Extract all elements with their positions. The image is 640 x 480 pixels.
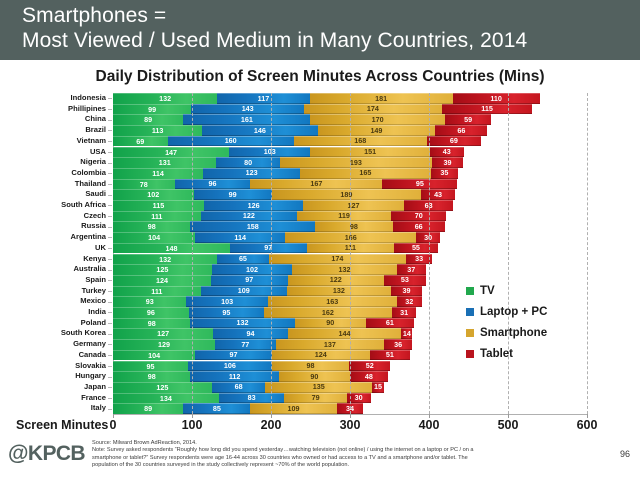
y-axis-tick — [108, 120, 112, 121]
bar-segment-smartphone: 165 — [300, 168, 430, 179]
bar-segment-tablet: 95 — [382, 179, 457, 190]
bar-value-label: 119 — [338, 212, 350, 219]
bar-segment-tablet: 32 — [397, 296, 422, 307]
bar-segment-tablet: 48 — [350, 371, 388, 382]
bar-value-label: 39 — [444, 159, 452, 166]
bar-segment-tv: 104 — [113, 232, 195, 243]
y-axis-tick — [108, 398, 112, 399]
bar-segment-tv: 148 — [113, 243, 230, 254]
chart-y-axis-labels: IndonesiaPhillipinesChinaBrazilVietnamUS… — [0, 93, 110, 414]
bar-value-label: 96 — [209, 180, 217, 187]
bar-value-label: 127 — [157, 330, 169, 337]
bar-value-label: 181 — [375, 95, 387, 102]
y-axis-label: Indonesia — [71, 93, 106, 104]
bar-value-label: 99 — [148, 106, 156, 113]
bar-value-label: 167 — [310, 180, 322, 187]
bar-segment-laptop-pc: 112 — [190, 371, 278, 382]
chart-bar-row: 12510213237 — [113, 264, 426, 275]
bar-value-label: 66 — [415, 223, 423, 230]
x-axis-tick-label: 600 — [577, 418, 598, 432]
bar-value-label: 104 — [148, 352, 160, 359]
bar-value-label: 83 — [248, 394, 256, 401]
bar-value-label: 193 — [350, 159, 362, 166]
bar-value-label: 48 — [365, 373, 373, 380]
bar-segment-smartphone: 119 — [297, 211, 391, 222]
y-axis-label: Kenya — [83, 254, 106, 265]
chart-gridline — [192, 93, 193, 414]
bar-value-label: 97 — [245, 276, 253, 283]
chart-bar-row: 11412316535 — [113, 168, 458, 179]
bar-segment-tv: 114 — [113, 168, 203, 179]
chart-bar-row: 1049712451 — [113, 350, 410, 361]
bar-value-label: 115 — [153, 202, 165, 209]
bar-value-label: 98 — [148, 320, 156, 327]
bar-segment-smartphone: 109 — [250, 403, 336, 414]
bar-segment-laptop-pc: 102 — [212, 264, 293, 275]
bar-segment-smartphone: 170 — [310, 114, 444, 125]
bar-segment-smartphone: 90 — [295, 318, 366, 329]
bar-value-label: 93 — [146, 298, 154, 305]
y-axis-label: China — [85, 114, 106, 125]
bar-segment-laptop-pc: 158 — [190, 221, 315, 232]
bar-segment-tablet: 70 — [391, 211, 446, 222]
bar-segment-laptop-pc: 65 — [217, 254, 268, 265]
chart-bar-row: 951069852 — [113, 361, 390, 372]
y-axis-tick — [108, 163, 112, 164]
chart-bar-row: 1256813515 — [113, 382, 384, 393]
source-note-line-4: population of the 30 countries surveyed … — [92, 462, 562, 469]
bar-value-label: 124 — [156, 277, 168, 284]
bar-value-label: 55 — [412, 244, 420, 251]
legend-label: Laptop + PC — [480, 306, 547, 318]
bar-segment-smartphone: 79 — [284, 393, 346, 404]
bar-segment-smartphone: 163 — [268, 296, 397, 307]
bar-value-label: 122 — [330, 276, 342, 283]
bar-segment-smartphone: 174 — [304, 104, 441, 115]
bar-value-label: 70 — [415, 212, 423, 219]
legend-item[interactable]: Smartphone — [466, 327, 547, 339]
bar-value-label: 112 — [229, 373, 241, 380]
y-axis-label: Russia — [81, 221, 106, 232]
bar-value-label: 132 — [159, 256, 171, 263]
bar-value-label: 59 — [464, 116, 472, 123]
chart-bar-row: 11112211970 — [113, 211, 446, 222]
y-axis-tick — [108, 130, 112, 131]
bar-value-label: 103 — [221, 298, 233, 305]
bar-segment-smartphone: 98 — [315, 221, 392, 232]
y-axis-tick — [108, 280, 112, 281]
bar-segment-tv: 124 — [113, 275, 211, 286]
y-axis-tick — [108, 109, 112, 110]
y-axis-tick — [108, 355, 112, 356]
chart-bar-row: 981129048 — [113, 371, 388, 382]
bar-segment-smartphone: 181 — [310, 93, 453, 104]
bar-value-label: 126 — [248, 202, 260, 209]
y-axis-label: Turkey — [82, 286, 106, 297]
bar-segment-tv: 132 — [113, 93, 217, 104]
bar-value-label: 98 — [148, 223, 156, 230]
bar-value-label: 168 — [354, 137, 366, 144]
bar-value-label: 96 — [147, 309, 155, 316]
bar-segment-tv: 131 — [113, 157, 216, 168]
bar-segment-tv: 93 — [113, 296, 186, 307]
y-axis-tick — [108, 387, 112, 388]
legend-item[interactable]: TV — [466, 285, 547, 297]
bar-segment-tv: 115 — [113, 200, 204, 211]
chart-bar-row: 14710315143 — [113, 147, 464, 158]
bar-segment-laptop-pc: 132 — [190, 318, 294, 329]
chart-bar-row: 1297713736 — [113, 339, 412, 350]
bar-segment-laptop-pc: 96 — [175, 179, 251, 190]
bar-segment-smartphone: 98 — [272, 361, 349, 372]
bar-segment-smartphone: 151 — [310, 147, 429, 158]
bar-value-label: 51 — [386, 351, 394, 358]
bar-value-label: 129 — [158, 341, 170, 348]
y-axis-label: France — [81, 393, 106, 404]
header-title-line-2: Most Viewed / Used Medium in Many Countr… — [22, 28, 527, 54]
source-note: Source: Milward Brown AdReaction, 2014. … — [92, 440, 562, 469]
bar-segment-tablet: 31 — [392, 307, 416, 318]
legend-swatch-icon — [466, 329, 474, 337]
y-axis-label: Canada — [79, 350, 106, 361]
bar-value-label: 53 — [401, 276, 409, 283]
bar-value-label: 143 — [242, 105, 254, 112]
bar-segment-laptop-pc: 143 — [191, 104, 304, 115]
bar-segment-smartphone: 122 — [288, 275, 384, 286]
bar-value-label: 103 — [264, 148, 276, 155]
bar-segment-smartphone: 124 — [272, 350, 370, 361]
bar-segment-tablet: 36 — [384, 339, 412, 350]
y-axis-tick — [108, 141, 112, 142]
bar-value-label: 69 — [450, 137, 458, 144]
bar-value-label: 125 — [156, 266, 168, 273]
bar-segment-laptop-pc: 161 — [183, 114, 310, 125]
legend-item[interactable]: Tablet — [466, 348, 547, 360]
chart-bar-row: 10411416630 — [113, 232, 440, 243]
x-axis-tick-label: 500 — [498, 418, 519, 432]
y-axis-tick — [108, 377, 112, 378]
bar-segment-tv: 102 — [113, 189, 194, 200]
bar-value-label: 123 — [246, 169, 258, 176]
bar-value-label: 132 — [237, 319, 249, 326]
bar-segment-tv: 125 — [113, 382, 212, 393]
bar-segment-laptop-pc: 126 — [204, 200, 304, 211]
y-axis-tick — [108, 302, 112, 303]
bar-segment-laptop-pc: 68 — [212, 382, 266, 393]
bar-value-label: 90 — [310, 373, 318, 380]
y-axis-tick — [108, 248, 112, 249]
chart-gridline — [271, 93, 272, 414]
x-axis-tick-label: 400 — [419, 418, 440, 432]
y-axis-tick — [108, 195, 112, 196]
bar-segment-laptop-pc: 117 — [217, 93, 309, 104]
y-axis-label: Vietnam — [77, 136, 106, 147]
chart-bar-row: 11314614966 — [113, 125, 487, 136]
bar-value-label: 114 — [152, 170, 164, 177]
bar-segment-tv: 111 — [113, 286, 201, 297]
bar-segment-tablet: 52 — [349, 361, 390, 372]
y-axis-label: Australia — [74, 264, 107, 275]
bar-value-label: 102 — [246, 266, 258, 273]
bar-segment-tv: 104 — [113, 350, 195, 361]
bar-segment-laptop-pc: 160 — [168, 136, 294, 147]
y-axis-label: Slovakia — [75, 361, 106, 372]
bar-value-label: 113 — [152, 127, 164, 134]
bar-segment-tv: 125 — [113, 264, 212, 275]
slide-header: Smartphones = Most Viewed / Used Medium … — [0, 0, 640, 60]
bar-segment-tv: 89 — [113, 114, 183, 125]
x-axis-tick-label: 0 — [110, 418, 117, 432]
bar-segment-tablet: 37 — [397, 264, 426, 275]
bar-value-label: 90 — [326, 319, 334, 326]
bar-segment-smartphone: 168 — [294, 136, 427, 147]
y-axis-label: Saudi — [85, 189, 106, 200]
bar-segment-smartphone: 149 — [318, 125, 436, 136]
bar-segment-tv: 89 — [113, 403, 183, 414]
bar-segment-tv: 98 — [113, 318, 190, 329]
legend-item[interactable]: Laptop + PC — [466, 306, 547, 318]
bar-value-label: 89 — [144, 405, 152, 412]
bar-value-label: 37 — [407, 266, 415, 273]
bar-segment-tv: 129 — [113, 339, 215, 350]
bar-segment-smartphone: 189 — [272, 189, 421, 200]
y-axis-label: Hungary — [75, 371, 106, 382]
y-axis-tick — [108, 216, 112, 217]
y-axis-label: South Africa — [61, 200, 106, 211]
bar-value-label: 43 — [443, 148, 451, 155]
bar-segment-laptop-pc: 97 — [230, 243, 307, 254]
bar-segment-tv: 132 — [113, 254, 217, 265]
bar-value-label: 146 — [254, 127, 266, 134]
y-axis-tick — [108, 152, 112, 153]
chart-bar-row: 8916117059 — [113, 114, 491, 125]
bar-segment-laptop-pc: 103 — [229, 147, 310, 158]
bar-segment-tablet: 14 — [401, 328, 412, 339]
bar-value-label: 151 — [364, 148, 376, 155]
bar-value-label: 85 — [213, 405, 221, 412]
y-axis-label: Phillipines — [68, 104, 106, 115]
bar-segment-smartphone: 90 — [279, 371, 350, 382]
bar-value-label: 32 — [405, 298, 413, 305]
y-axis-label: India — [88, 307, 106, 318]
bar-segment-tv: 69 — [113, 136, 168, 147]
bar-value-label: 35 — [440, 169, 448, 176]
bar-segment-tv: 111 — [113, 211, 201, 222]
bar-segment-tv: 98 — [113, 371, 190, 382]
bar-segment-laptop-pc: 146 — [202, 125, 317, 136]
bar-value-label: 36 — [394, 341, 402, 348]
bar-segment-smartphone: 132 — [287, 286, 391, 297]
y-axis-label: UK — [95, 243, 106, 254]
bar-segment-smartphone: 137 — [276, 339, 384, 350]
bar-value-label: 80 — [244, 159, 252, 166]
bar-value-label: 79 — [312, 394, 320, 401]
bar-segment-tv: 95 — [113, 361, 188, 372]
bar-segment-tv: 78 — [113, 179, 175, 190]
chart-bar-row: 134837930 — [113, 393, 371, 404]
bar-segment-tablet: 35 — [431, 168, 459, 179]
legend-label: TV — [480, 285, 495, 297]
bar-segment-tv: 147 — [113, 147, 229, 158]
chart-bar-row: 898510934 — [113, 403, 363, 414]
bar-value-label: 160 — [225, 137, 237, 144]
bar-value-label: 132 — [333, 287, 345, 294]
bar-value-label: 114 — [234, 234, 246, 241]
bar-segment-tablet: 43 — [430, 147, 464, 158]
bar-segment-tablet: 39 — [391, 286, 422, 297]
bar-value-label: 14 — [403, 330, 411, 337]
y-axis-label: South Korea — [61, 328, 106, 339]
y-axis-label: Thailand — [75, 179, 106, 190]
bar-value-label: 95 — [416, 180, 424, 187]
bar-value-label: 147 — [165, 149, 177, 156]
bar-value-label: 99 — [229, 191, 237, 198]
y-axis-tick — [108, 227, 112, 228]
bar-value-label: 174 — [367, 105, 379, 112]
y-axis-tick — [108, 98, 112, 99]
chart-bar-row: 1279414414 — [113, 328, 412, 339]
bar-value-label: 137 — [324, 341, 336, 348]
bar-value-label: 68 — [235, 383, 243, 390]
y-axis-label: Czech — [84, 211, 106, 222]
bar-value-label: 30 — [355, 394, 363, 401]
bar-segment-laptop-pc: 123 — [203, 168, 300, 179]
chart-bar-row: 981329061 — [113, 318, 414, 329]
chart-legend: TVLaptop + PCSmartphoneTablet — [466, 285, 547, 369]
bar-segment-tv: 99 — [113, 104, 191, 115]
slide-footer: @KPCB Source: Milward Brown AdReaction, … — [0, 436, 640, 480]
y-axis-label: Germany — [73, 339, 106, 350]
bar-segment-laptop-pc: 99 — [194, 189, 272, 200]
bar-segment-laptop-pc: 97 — [211, 275, 288, 286]
bar-value-label: 109 — [287, 405, 299, 412]
bar-segment-smartphone: 135 — [265, 382, 372, 393]
legend-swatch-icon — [466, 308, 474, 316]
bar-segment-smartphone: 132 — [292, 264, 396, 275]
y-axis-tick — [108, 291, 112, 292]
y-axis-tick — [108, 173, 112, 174]
page-number: 96 — [620, 449, 630, 459]
bar-value-label: 15 — [374, 383, 382, 390]
source-note-line-2: Note: Survey asked respondents “Roughly … — [92, 447, 562, 454]
bar-value-label: 135 — [313, 383, 325, 390]
bar-value-label: 77 — [241, 341, 249, 348]
legend-label: Smartphone — [480, 327, 547, 339]
bar-value-label: 134 — [160, 395, 172, 402]
chart-gridline — [587, 93, 588, 414]
source-note-line-1: Source: Milward Brown AdReaction, 2014. — [92, 440, 562, 447]
bar-value-label: 104 — [148, 234, 160, 241]
chart-bar-row: 132117181110 — [113, 93, 540, 104]
bar-value-label: 89 — [144, 116, 152, 123]
bar-segment-tv: 134 — [113, 393, 219, 404]
bar-value-label: 163 — [326, 298, 338, 305]
bar-value-label: 122 — [243, 212, 255, 219]
bar-segment-laptop-pc: 103 — [186, 296, 267, 307]
bar-segment-laptop-pc: 94 — [213, 328, 287, 339]
bar-segment-tablet: 39 — [432, 157, 463, 168]
bar-segment-tablet: 59 — [445, 114, 492, 125]
bar-value-label: 69 — [136, 138, 144, 145]
bar-value-label: 111 — [151, 213, 162, 220]
chart-bar-row: 1489711155 — [113, 243, 438, 254]
chart-bar-row: 1318019339 — [113, 157, 463, 168]
y-axis-tick — [108, 312, 112, 313]
bar-value-label: 98 — [148, 373, 156, 380]
bar-value-label: 31 — [400, 309, 408, 316]
y-axis-tick — [108, 259, 112, 260]
bar-value-label: 115 — [481, 105, 493, 112]
y-axis-label: Italy — [91, 403, 106, 414]
bar-value-label: 124 — [315, 351, 327, 358]
legend-swatch-icon — [466, 287, 474, 295]
source-note-line-3: smartphone or tablet?” Survey respondent… — [92, 455, 562, 462]
y-axis-tick — [108, 184, 112, 185]
bar-value-label: 102 — [147, 191, 159, 198]
bar-value-label: 98 — [350, 223, 358, 230]
chart-bar-row: 1249712253 — [113, 275, 426, 286]
chart-x-axis: 0100200300400500600 — [0, 414, 640, 436]
bar-segment-laptop-pc: 95 — [189, 307, 264, 318]
bar-segment-smartphone: 127 — [303, 200, 403, 211]
y-axis-label: Argentina — [71, 232, 106, 243]
bar-segment-laptop-pc: 122 — [201, 211, 297, 222]
chart-title: Daily Distribution of Screen Minutes Acr… — [0, 68, 640, 86]
bar-segment-tablet: 66 — [393, 221, 445, 232]
bar-value-label: 61 — [386, 319, 394, 326]
chart-bar-row: 981589866 — [113, 221, 445, 232]
y-axis-label: Spain — [85, 275, 106, 286]
chart-gridline — [429, 93, 430, 414]
bar-value-label: 162 — [322, 309, 334, 316]
bar-segment-tablet: 51 — [370, 350, 410, 361]
bar-segment-smartphone: 144 — [288, 328, 402, 339]
y-axis-label: Mexico — [80, 296, 106, 307]
y-axis-label: Japan — [84, 382, 106, 393]
bar-value-label: 117 — [258, 95, 270, 102]
chart-bar-row: 1029918943 — [113, 189, 455, 200]
legend-label: Tablet — [480, 348, 513, 360]
bar-value-label: 109 — [238, 287, 250, 294]
bar-value-label: 65 — [239, 255, 247, 262]
y-axis-tick — [108, 334, 112, 335]
slide-root: Smartphones = Most Viewed / Used Medium … — [0, 0, 640, 480]
bar-value-label: 97 — [229, 351, 237, 358]
chart-bar-row: 11512612763 — [113, 200, 453, 211]
bar-segment-laptop-pc: 109 — [201, 286, 287, 297]
bar-segment-tablet: 115 — [442, 104, 533, 115]
bar-value-label: 125 — [156, 384, 168, 391]
chart-bar-row: 789616795 — [113, 179, 457, 190]
bar-value-label: 98 — [306, 362, 314, 369]
y-axis-tick — [108, 409, 112, 410]
bar-segment-tv: 96 — [113, 307, 189, 318]
header-title-line-1: Smartphones = — [22, 3, 166, 29]
bar-value-label: 52 — [366, 362, 374, 369]
y-axis-tick — [108, 237, 112, 238]
bar-value-label: 66 — [457, 127, 465, 134]
y-axis-label: Brazil — [85, 125, 106, 136]
bar-value-label: 161 — [241, 116, 253, 123]
bar-segment-laptop-pc: 83 — [219, 393, 285, 404]
chart-bar-row: 99143174115 — [113, 104, 532, 115]
bar-value-label: 94 — [246, 330, 254, 337]
bar-segment-tablet: 53 — [384, 275, 426, 286]
bar-segment-tablet: 15 — [372, 382, 384, 393]
y-axis-label: Nigeria — [80, 157, 106, 168]
y-axis-label: Colombia — [71, 168, 106, 179]
chart-bar-row: 6916016869 — [113, 136, 481, 147]
